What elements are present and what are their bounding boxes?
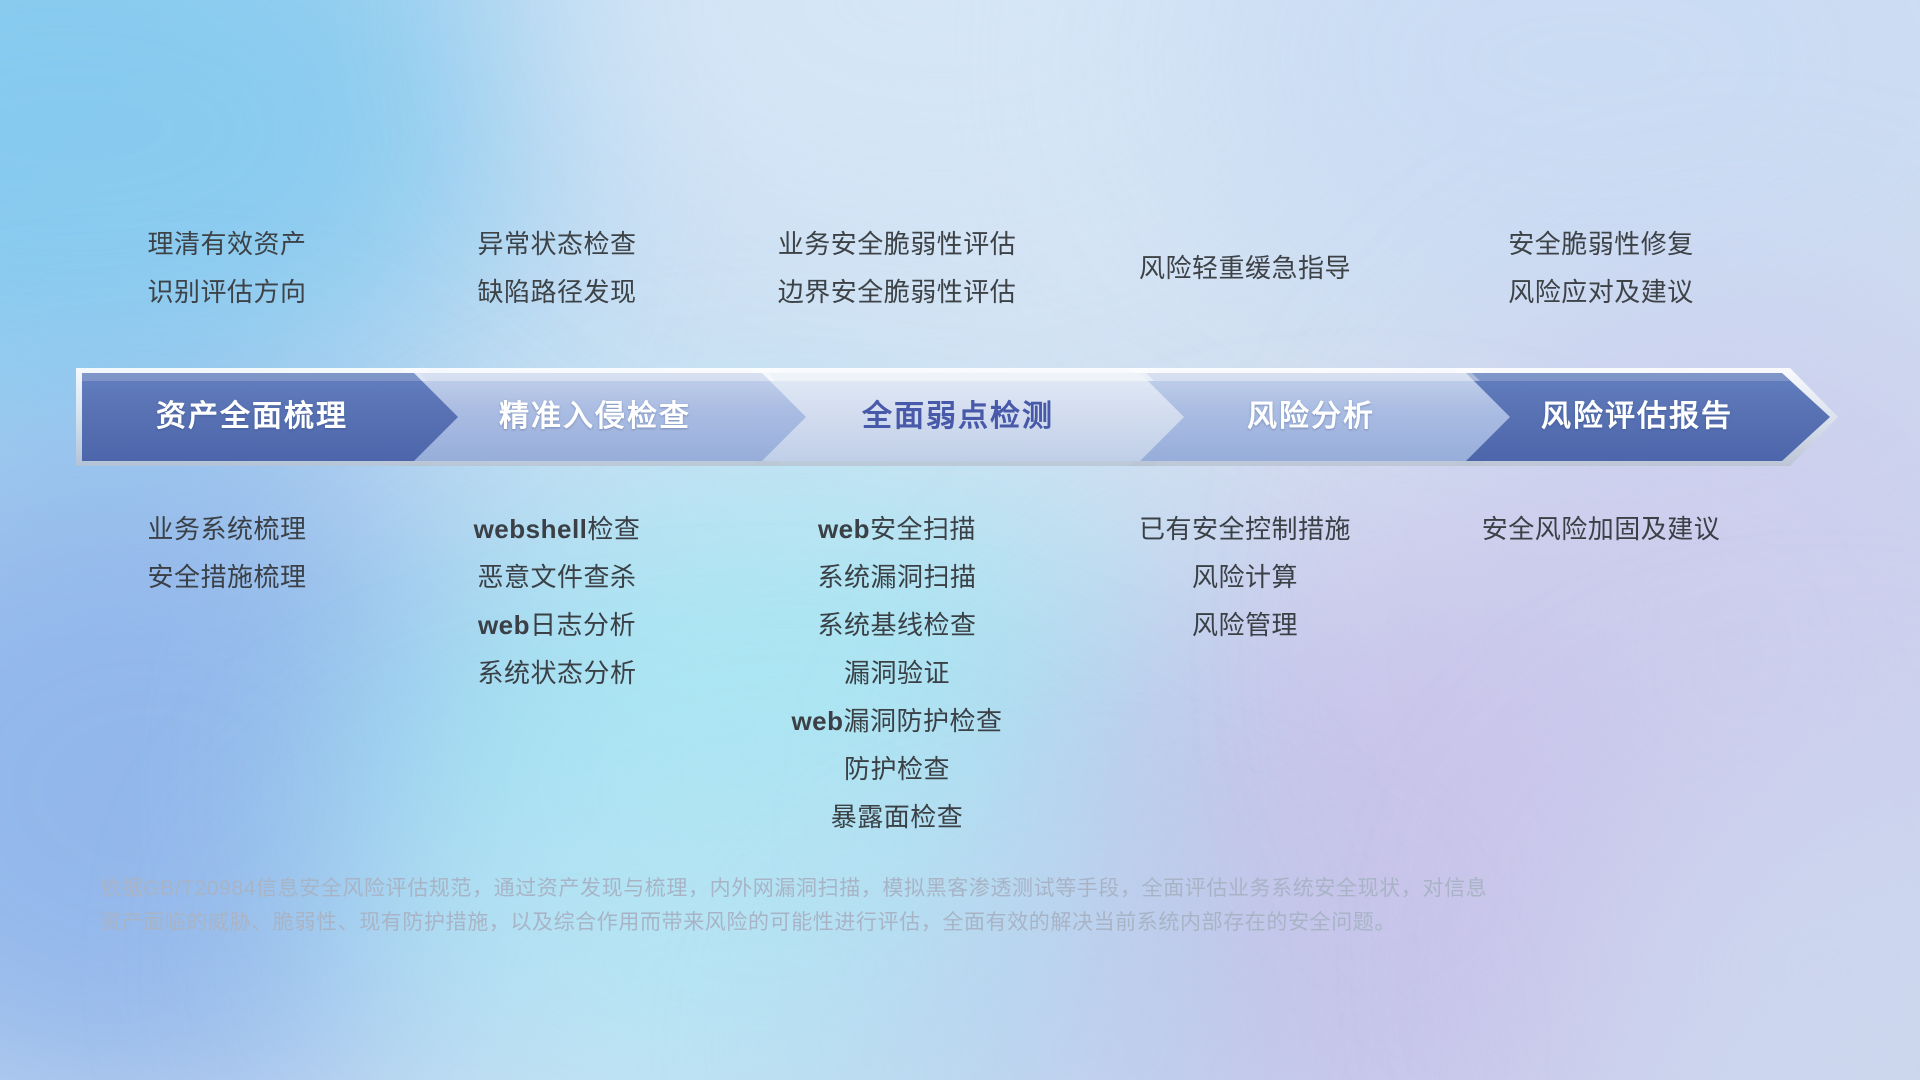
arrow-label-step-5[interactable]: 风险评估报告 [1472, 368, 1802, 466]
top-caption-group-5: 安全脆弱性修复 风险应对及建议 [1426, 218, 1776, 318]
list-item: 暴露面检查 [831, 793, 964, 841]
list-item-label: 安全扫描 [870, 514, 976, 544]
list-item: 安全风险加固及建议 [1482, 505, 1721, 553]
list-item: 系统基线检查 [817, 601, 976, 649]
arrow-label-step-1[interactable]: 资产全面梳理 [82, 368, 422, 466]
top-caption: 安全脆弱性修复 [1508, 220, 1694, 268]
top-caption-group-4: 风险轻重缓急指导 [1080, 218, 1410, 318]
top-caption-group-1: 理清有效资产 识别评估方向 [62, 218, 392, 318]
list-item-label: 漏洞防护检查 [844, 706, 1003, 736]
bottom-list-group-5: 安全风险加固及建议 [1426, 505, 1776, 553]
list-item-prefix: web [791, 706, 843, 736]
list-item: 风险计算 [1192, 553, 1298, 601]
footer-line-1: 依据GB/T20984信息安全风险评估规范，通过资产发现与梳理，内外网漏洞扫描，… [100, 872, 1620, 906]
list-item: web安全扫描 [818, 505, 976, 553]
top-caption: 业务安全脆弱性评估 [778, 220, 1017, 268]
list-item: webshell检查 [474, 505, 641, 553]
list-item: 恶意文件查杀 [477, 553, 636, 601]
top-caption: 异常状态检查 [477, 220, 636, 268]
top-caption: 边界安全脆弱性评估 [778, 268, 1017, 316]
list-item-label: 检查 [587, 514, 640, 544]
top-caption: 识别评估方向 [147, 268, 306, 316]
list-item-prefix: webshell [474, 514, 588, 544]
list-item: web漏洞防护检查 [791, 697, 1002, 745]
list-item: 防护检查 [844, 745, 950, 793]
bottom-list-group-2: webshell检查 恶意文件查杀 web日志分析 系统状态分析 [392, 505, 722, 697]
top-caption-group-3: 业务安全脆弱性评估 边界安全脆弱性评估 [722, 218, 1072, 318]
arrow-label-step-4[interactable]: 风险分析 [1146, 368, 1476, 466]
list-item: 漏洞验证 [844, 649, 950, 697]
list-item: 已有安全控制措施 [1139, 505, 1351, 553]
top-caption: 风险轻重缓急指导 [1139, 244, 1351, 292]
top-caption: 风险应对及建议 [1508, 268, 1694, 316]
list-item: 系统漏洞扫描 [817, 553, 976, 601]
top-captions-row: 理清有效资产 识别评估方向 异常状态检查 缺陷路径发现 业务安全脆弱性评估 边界… [0, 218, 1920, 318]
list-item: 业务系统梳理 [147, 505, 306, 553]
list-item: 系统状态分析 [477, 649, 636, 697]
bottom-list-group-1: 业务系统梳理 安全措施梳理 [62, 505, 392, 601]
bottom-list-group-3: web安全扫描 系统漏洞扫描 系统基线检查 漏洞验证 web漏洞防护检查 防护检… [722, 505, 1072, 841]
footer-line-2: 资产面临的威胁、脆弱性、现有防护措施，以及综合作用而带来风险的可能性进行评估，全… [100, 906, 1620, 940]
arrow-label-step-2[interactable]: 精准入侵检查 [420, 368, 770, 466]
list-item-label: 日志分析 [530, 610, 636, 640]
list-item: web日志分析 [478, 601, 636, 649]
process-diagram: 理清有效资产 识别评估方向 异常状态检查 缺陷路径发现 业务安全脆弱性评估 边界… [0, 0, 1920, 1080]
footer-description: 依据GB/T20984信息安全风险评估规范，通过资产发现与梳理，内外网漏洞扫描，… [100, 872, 1620, 940]
list-item-prefix: web [478, 610, 530, 640]
arrow-label-step-3[interactable]: 全面弱点检测 [768, 368, 1148, 466]
top-caption: 缺陷路径发现 [477, 268, 636, 316]
bottom-list-group-4: 已有安全控制措施 风险计算 风险管理 [1080, 505, 1410, 649]
list-item: 安全措施梳理 [147, 553, 306, 601]
top-caption: 理清有效资产 [147, 220, 306, 268]
bottom-lists-row: 业务系统梳理 安全措施梳理 webshell检查 恶意文件查杀 web日志分析 … [0, 505, 1920, 841]
list-item-prefix: web [818, 514, 870, 544]
top-caption-group-2: 异常状态检查 缺陷路径发现 [392, 218, 722, 318]
list-item: 风险管理 [1192, 601, 1298, 649]
